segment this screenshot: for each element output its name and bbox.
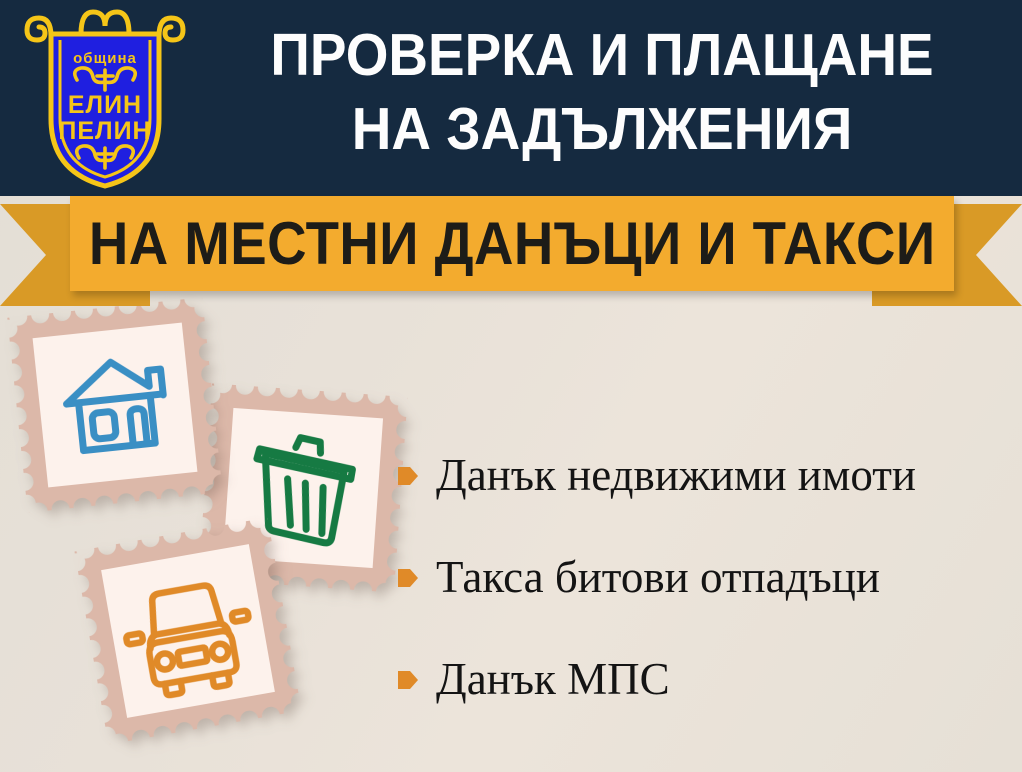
svg-text:ПЕЛИН: ПЕЛИН — [58, 117, 151, 145]
subtitle-ribbon: НА МЕСТНИ ДАНЪЦИ И ТАКСИ — [0, 196, 1022, 314]
list-item[interactable]: Данък МПС — [398, 628, 998, 730]
arrow-pentagon-icon — [398, 668, 418, 692]
list-item[interactable]: Такса битови отпадъци — [398, 526, 998, 628]
ribbon-label: НА МЕСТНИ ДАНЪЦИ И ТАКСИ — [89, 213, 936, 275]
municipality-crest-icon: община ЕЛИН ПЕЛИН — [21, 4, 189, 190]
page-title: ПРОВЕРКА И ПЛАЩАНЕ НА ЗАДЪЛЖЕНИЯ — [192, 18, 1012, 166]
stamp-card-car — [74, 517, 301, 744]
svg-text:община: община — [73, 50, 137, 67]
ribbon-banner: НА МЕСТНИ ДАНЪЦИ И ТАКСИ — [70, 196, 954, 291]
page-title-line-1: ПРОВЕРКА И ПЛАЩАНЕ — [221, 18, 984, 92]
list-item-label: Данък недвижими имоти — [436, 450, 916, 500]
header-bar: община ЕЛИН ПЕЛИН — [0, 0, 1022, 196]
arrow-pentagon-icon — [398, 566, 418, 590]
arrow-pentagon-icon — [398, 464, 418, 488]
list-item[interactable]: Данък недвижими имоти — [398, 424, 998, 526]
stamp-card-house — [7, 297, 222, 512]
list-item-label: Данък МПС — [436, 654, 670, 704]
poster-root: община ЕЛИН ПЕЛИН — [0, 0, 1022, 772]
page-title-line-2: НА ЗАДЪЛЖЕНИЯ — [221, 92, 984, 166]
services-list: Данък недвижими имоти Такса битови отпад… — [398, 424, 998, 730]
svg-text:ЕЛИН: ЕЛИН — [68, 91, 142, 119]
list-item-label: Такса битови отпадъци — [436, 552, 880, 602]
